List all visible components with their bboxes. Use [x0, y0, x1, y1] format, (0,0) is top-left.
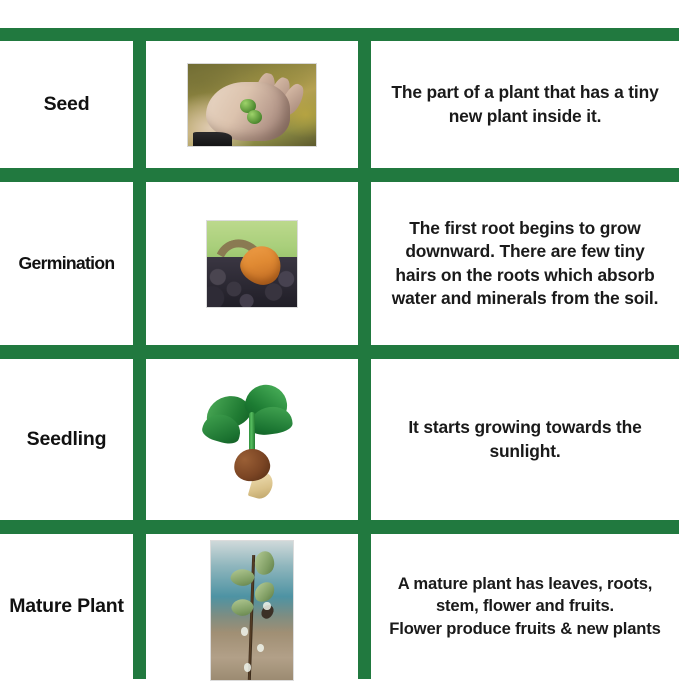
grid-vline-r1-c2 — [358, 41, 371, 168]
sleeve-cuff — [193, 132, 231, 146]
grid-vline-r1-c1 — [133, 41, 146, 168]
plant-flower — [257, 644, 264, 652]
seedling-illustration — [199, 378, 305, 502]
image-cell-mature-plant — [146, 534, 358, 679]
plant-flower — [244, 663, 251, 671]
stage-label-germination: Germination — [2, 252, 131, 274]
grid-vline-r4-c2 — [358, 534, 371, 679]
plant-leaf — [251, 580, 277, 604]
grid-vline-r2-c2 — [358, 182, 371, 345]
image-cell-seed — [146, 41, 358, 168]
description-cell-mature-plant: A mature plant has leaves, roots, stem, … — [371, 534, 679, 679]
image-cell-seedling — [146, 359, 358, 520]
grid-hline-1 — [0, 168, 679, 182]
grid-hline-3 — [0, 520, 679, 534]
stage-label-seedling: Seedling — [2, 427, 131, 452]
stage-label-mature-plant: Mature Plant — [2, 594, 131, 619]
description-cell-seedling: It starts growing towards the sunlight. — [371, 359, 679, 520]
description-cell-germination: The first root begins to grow downward. … — [371, 182, 679, 345]
table-row: Germination — [0, 182, 133, 345]
description-text: The first root begins to grow downward. … — [385, 217, 665, 310]
seed-in-hand-photo — [187, 63, 317, 147]
grid-vline-r3-c1 — [133, 359, 146, 520]
grid-vline-r2-c1 — [133, 182, 146, 345]
plant-life-cycle-table: Seed The part of a plant that has a tiny… — [0, 0, 679, 679]
germinating-seed-photo — [206, 220, 298, 308]
description-text: The part of a plant that has a tiny new … — [385, 81, 665, 127]
table-row: Seed — [0, 41, 133, 168]
grid-hline-2 — [0, 345, 679, 359]
description-cell-seed: The part of a plant that has a tiny new … — [371, 41, 679, 168]
description-text: A mature plant has leaves, roots, stem, … — [385, 573, 665, 639]
plant-flower — [241, 627, 248, 635]
grid-vline-r3-c2 — [358, 359, 371, 520]
grid-vline-r4-c1 — [133, 534, 146, 679]
grid-hline-top — [0, 28, 679, 41]
table-row: Seedling — [0, 359, 133, 520]
stage-label-seed: Seed — [2, 92, 131, 117]
mature-plant-photo — [210, 540, 294, 681]
table-row: Mature Plant — [0, 534, 133, 679]
description-text: It starts growing towards the sunlight. — [385, 416, 665, 462]
image-cell-germination — [146, 182, 358, 345]
